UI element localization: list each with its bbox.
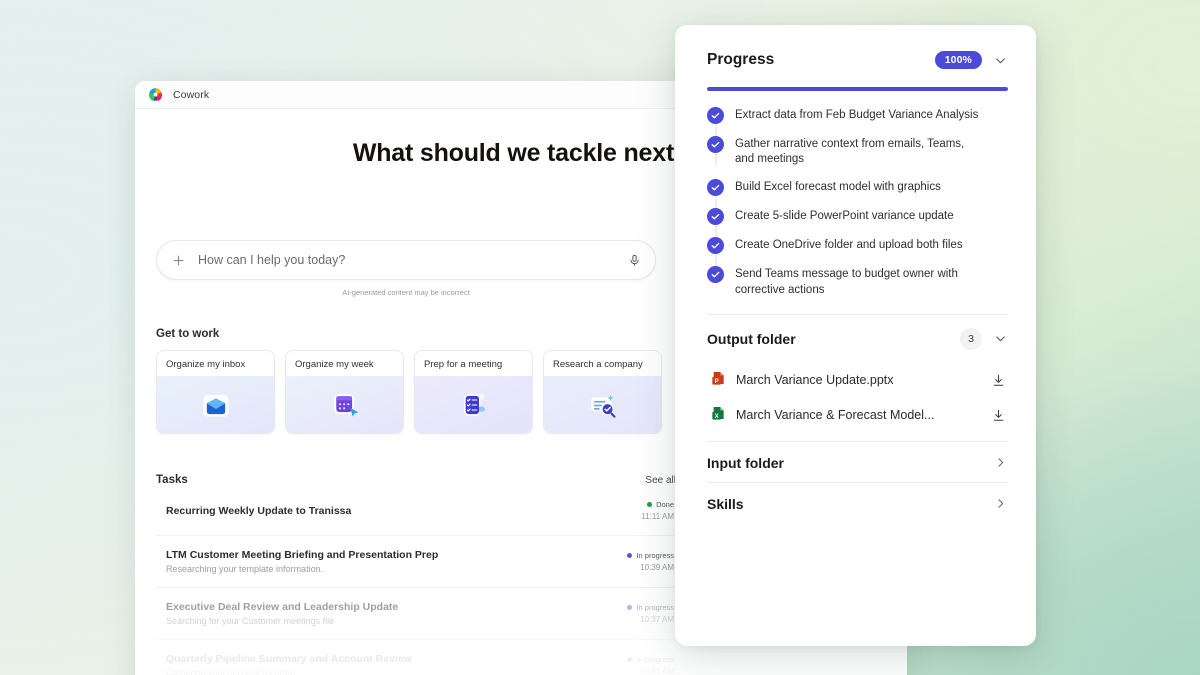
output-folder-header[interactable]: Output folder 3: [707, 314, 1008, 361]
status-badge: In progress: [627, 551, 674, 560]
task-title: Executive Deal Review and Leadership Upd…: [166, 601, 398, 613]
status-dot-icon: [627, 553, 632, 558]
progress-panel: Progress 100% Extract data from Feb Budg…: [675, 25, 1036, 646]
list-item: Create 5-slide PowerPoint variance updat…: [707, 208, 1008, 237]
table-row[interactable]: Quarterly Pipeline Summary and Account R…: [156, 640, 676, 675]
check-circle-icon: [707, 208, 724, 225]
mail-sparkle-icon: [157, 376, 274, 433]
progress-header-actions: 100%: [935, 51, 1008, 69]
powerpoint-file-icon: P: [711, 370, 727, 391]
task-main: LTM Customer Meeting Briefing and Presen…: [166, 549, 438, 574]
status-badge: Done: [647, 500, 674, 509]
table-row[interactable]: Executive Deal Review and Leadership Upd…: [156, 588, 676, 640]
chevron-right-icon[interactable]: [993, 496, 1008, 511]
file-name: March Variance Update.pptx: [736, 373, 894, 387]
progress-bar-fill: [707, 87, 1008, 91]
tasks-header: Tasks See all: [156, 474, 676, 486]
status-dot-icon: [647, 502, 652, 507]
microphone-icon[interactable]: [628, 254, 641, 267]
excel-file-icon: X: [711, 405, 727, 426]
progress-bar: [707, 87, 1008, 91]
calendar-grid-cursor-icon: [286, 376, 403, 433]
step-label: Create OneDrive folder and upload both f…: [735, 237, 963, 253]
task-meta: In progress 10:37 AM: [627, 603, 674, 624]
step-label: Send Teams message to budget owner with …: [735, 266, 980, 297]
see-all-link[interactable]: See all: [645, 475, 676, 486]
task-meta: In progress 10:31 AM: [627, 655, 674, 675]
status-dot-icon: [627, 605, 632, 610]
task-time: 10:31 AM: [640, 667, 674, 675]
list-item: Gather narrative context from emails, Te…: [707, 136, 1008, 179]
status-label: In progress: [636, 655, 674, 664]
card-organize-my-inbox[interactable]: Organize my inbox: [156, 350, 275, 434]
task-title: LTM Customer Meeting Briefing and Presen…: [166, 549, 438, 561]
file-left: X March Variance & Forecast Model...: [711, 405, 934, 426]
table-row[interactable]: LTM Customer Meeting Briefing and Presen…: [156, 536, 676, 588]
output-folder-count: 3: [960, 328, 982, 350]
task-meta: Done 11:11 AM: [641, 500, 674, 521]
download-icon[interactable]: [991, 408, 1006, 423]
ai-disclaimer: AI-generated content may be incorrect: [156, 288, 656, 297]
check-circle-icon: [707, 107, 724, 124]
input-folder-row[interactable]: Input folder: [707, 441, 1008, 482]
card-organize-my-week[interactable]: Organize my week: [285, 350, 404, 434]
output-folder-title: Output folder: [707, 331, 796, 347]
card-research-a-company[interactable]: Research a company: [543, 350, 662, 434]
list-item: Extract data from Feb Budget Variance An…: [707, 107, 1008, 136]
plus-icon[interactable]: [168, 250, 189, 271]
task-subtitle: Searching for your Customer meetings fil…: [166, 616, 398, 626]
file-name: March Variance & Forecast Model...: [736, 408, 934, 422]
cowork-logo-icon: [148, 87, 163, 102]
task-title: Recurring Weekly Update to Tranissa: [166, 505, 351, 517]
step-marker: [707, 237, 724, 254]
composer-bar[interactable]: [156, 240, 656, 280]
card-label: Prep for a meeting: [415, 351, 532, 376]
download-icon[interactable]: [991, 373, 1006, 388]
list-item[interactable]: P March Variance Update.pptx: [707, 363, 1008, 398]
svg-text:P: P: [715, 379, 719, 385]
table-row[interactable]: Recurring Weekly Update to Tranissa Done…: [156, 486, 676, 536]
task-meta: In progress 10:39 AM: [627, 551, 674, 572]
step-label: Build Excel forecast model with graphics: [735, 179, 941, 195]
tasks-section: Tasks See all Recurring Weekly Update to…: [156, 474, 676, 675]
file-left: P March Variance Update.pptx: [711, 370, 894, 391]
task-main: Executive Deal Review and Leadership Upd…: [166, 601, 398, 626]
list-item: Build Excel forecast model with graphics: [707, 179, 1008, 208]
svg-text:X: X: [715, 414, 719, 420]
step-label: Gather narrative context from emails, Te…: [735, 136, 980, 167]
card-label: Organize my week: [286, 351, 403, 376]
status-label: In progress: [636, 603, 674, 612]
chevron-down-icon[interactable]: [993, 331, 1008, 346]
get-to-work-cards: Organize my inbox Organize my week: [156, 350, 676, 434]
document-search-check-icon: [544, 376, 661, 433]
step-label: Create 5-slide PowerPoint variance updat…: [735, 208, 954, 224]
step-marker: [707, 208, 724, 225]
get-to-work-heading: Get to work: [156, 328, 676, 340]
list-item[interactable]: X March Variance & Forecast Model...: [707, 398, 1008, 433]
progress-title: Progress: [707, 51, 774, 69]
check-circle-icon: [707, 136, 724, 153]
tasks-heading: Tasks: [156, 474, 188, 486]
checklist-sparkle-icon: [415, 376, 532, 433]
card-prep-for-a-meeting[interactable]: Prep for a meeting: [414, 350, 533, 434]
status-label: In progress: [636, 551, 674, 560]
task-main: Recurring Weekly Update to Tranissa: [166, 505, 351, 517]
chevron-down-icon[interactable]: [993, 53, 1008, 68]
card-label: Research a company: [544, 351, 661, 376]
step-marker: [707, 179, 724, 196]
status-badge: In progress: [627, 655, 674, 664]
search-input[interactable]: [189, 253, 628, 267]
check-circle-icon: [707, 179, 724, 196]
step-marker: [707, 107, 724, 124]
step-marker: [707, 266, 724, 283]
list-item: Create OneDrive folder and upload both f…: [707, 237, 1008, 266]
progress-steps: Extract data from Feb Budget Variance An…: [707, 107, 1008, 298]
step-connector: [715, 153, 716, 166]
task-time: 11:11 AM: [641, 512, 674, 521]
app-title: Cowork: [173, 89, 209, 101]
task-title: Quarterly Pipeline Summary and Account R…: [166, 653, 412, 665]
step-label: Extract data from Feb Budget Variance An…: [735, 107, 978, 123]
task-subtitle: Researching your template information.: [166, 564, 438, 574]
get-to-work-section: Get to work Organize my inbox Organi: [156, 328, 676, 434]
status-badge: In progress: [627, 603, 674, 612]
task-time: 10:39 AM: [640, 563, 674, 572]
input-folder-title: Input folder: [707, 455, 784, 471]
check-circle-icon: [707, 237, 724, 254]
task-main: Quarterly Pipeline Summary and Account R…: [166, 653, 412, 675]
list-item: Send Teams message to budget owner with …: [707, 266, 1008, 297]
task-time: 10:37 AM: [640, 615, 674, 624]
progress-percent-badge: 100%: [935, 51, 982, 69]
status-label: Done: [656, 500, 674, 509]
output-folder-actions: 3: [960, 328, 1008, 350]
skills-row[interactable]: Skills: [707, 482, 1008, 523]
chevron-right-icon[interactable]: [993, 455, 1008, 470]
check-circle-icon: [707, 266, 724, 283]
skills-title: Skills: [707, 496, 744, 512]
progress-header: Progress 100%: [707, 51, 1008, 69]
output-folder-files: P March Variance Update.pptx X: [707, 363, 1008, 433]
status-dot-icon: [627, 657, 632, 662]
card-label: Organize my inbox: [157, 351, 274, 376]
step-marker: [707, 136, 724, 153]
task-subtitle: Gathering your account records: [166, 668, 412, 675]
